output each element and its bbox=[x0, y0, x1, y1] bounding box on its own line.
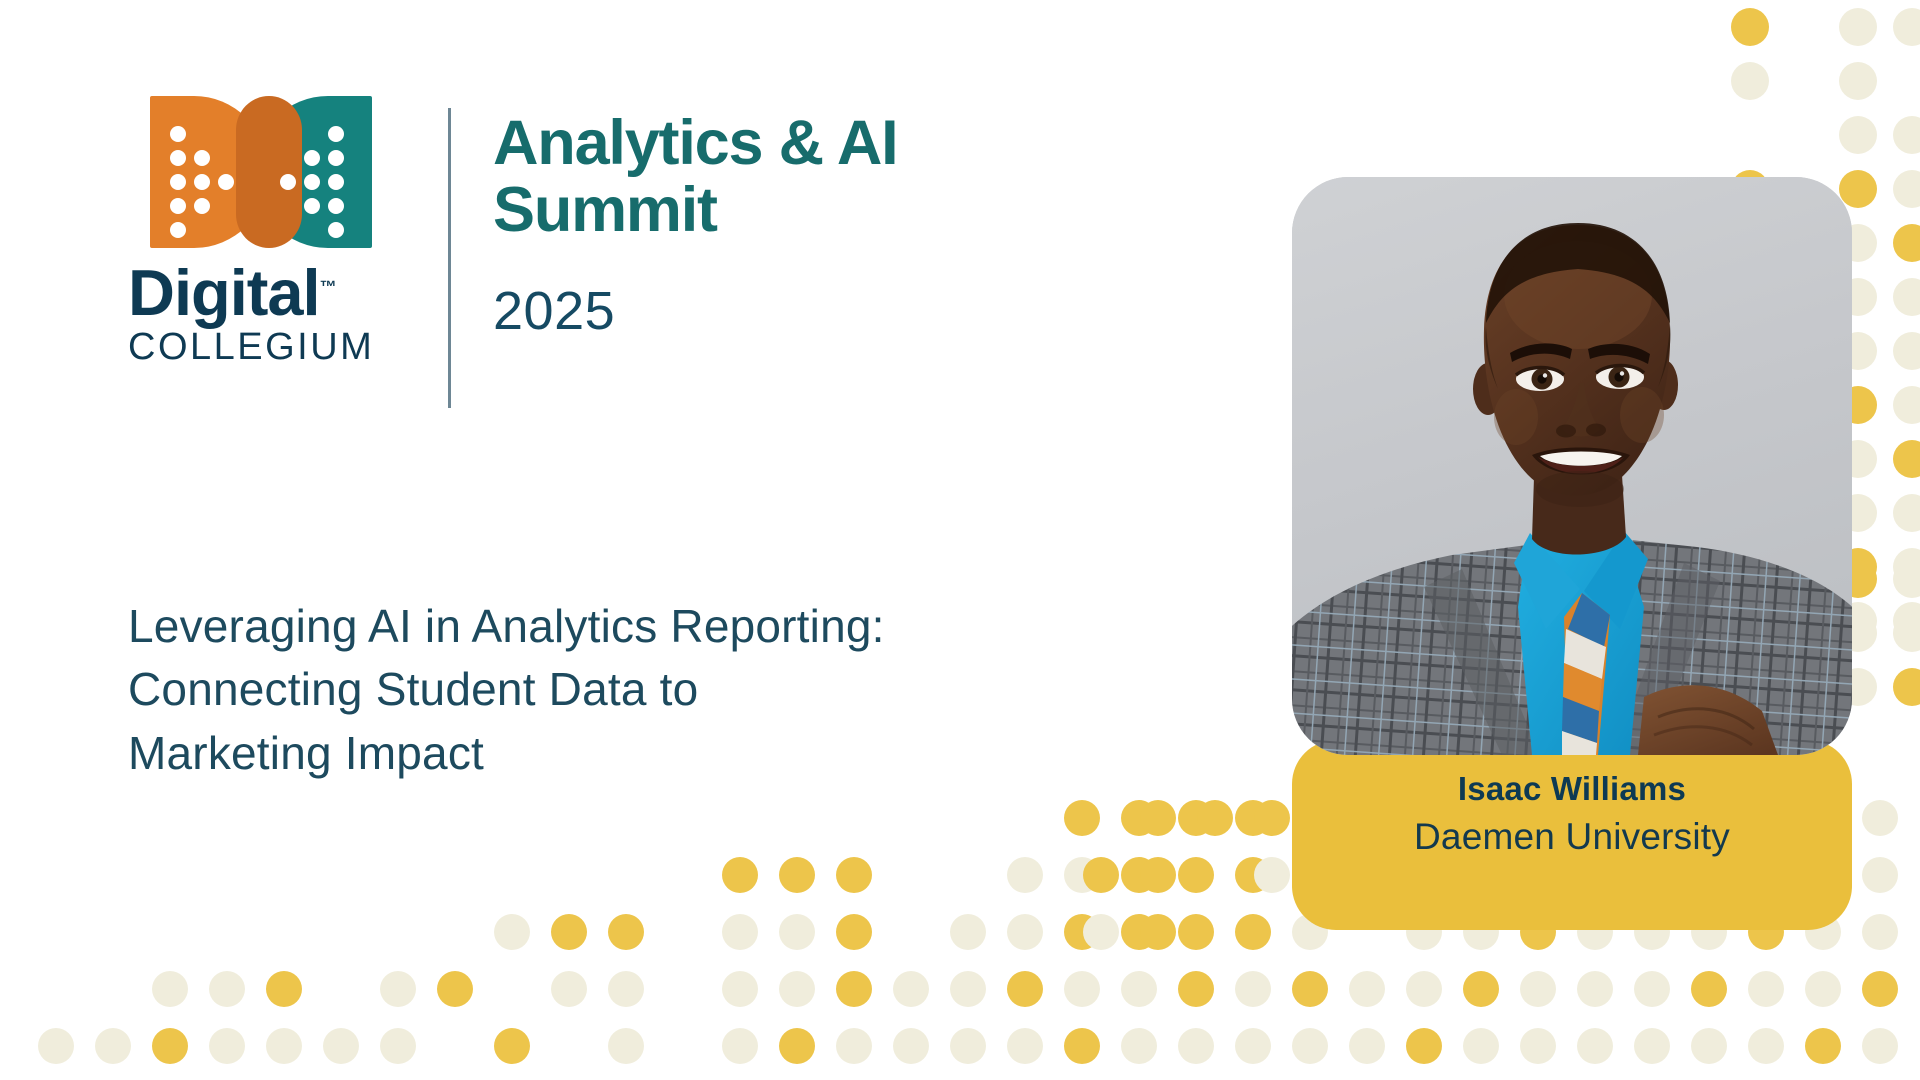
decorative-dot bbox=[494, 1028, 530, 1064]
decorative-dot bbox=[1235, 800, 1271, 836]
decorative-dot bbox=[1121, 914, 1157, 950]
monogram-dot bbox=[194, 150, 210, 166]
monogram-dot bbox=[194, 198, 210, 214]
decorative-dot bbox=[893, 971, 929, 1007]
decorative-dot bbox=[1121, 800, 1157, 836]
decorative-dot bbox=[38, 1028, 74, 1064]
wordmark-digital-text: Digital bbox=[128, 256, 320, 329]
decorative-dot bbox=[95, 1028, 131, 1064]
decorative-dot bbox=[1349, 1028, 1385, 1064]
decorative-dot bbox=[266, 1028, 302, 1064]
decorative-dot bbox=[1893, 548, 1920, 586]
decorative-dot bbox=[722, 914, 758, 950]
monogram-dot bbox=[328, 198, 344, 214]
decorative-dot bbox=[1893, 614, 1920, 652]
decorative-dot bbox=[266, 971, 302, 1007]
decorative-dot bbox=[1893, 8, 1920, 46]
decorative-dot bbox=[1862, 971, 1898, 1007]
decorative-dot bbox=[1731, 8, 1769, 46]
decorative-dot bbox=[1634, 971, 1670, 1007]
decorative-dot bbox=[1893, 494, 1920, 532]
decorative-dot bbox=[779, 914, 815, 950]
decorative-dot bbox=[1805, 1028, 1841, 1064]
decorative-dot bbox=[380, 971, 416, 1007]
session-title: Leveraging AI in Analytics Reporting: Co… bbox=[128, 595, 1198, 785]
decorative-dot bbox=[1121, 1028, 1157, 1064]
decorative-dot bbox=[1839, 170, 1877, 208]
monogram-dot-matrix bbox=[150, 96, 372, 248]
decorative-dot bbox=[1292, 1028, 1328, 1064]
decorative-dot bbox=[1064, 800, 1100, 836]
decorative-dot bbox=[1520, 1028, 1556, 1064]
decorative-dot bbox=[893, 1028, 929, 1064]
decorative-dot bbox=[1893, 170, 1920, 208]
decorative-dot bbox=[1406, 971, 1442, 1007]
monogram-dot bbox=[328, 126, 344, 142]
decorative-dot bbox=[1007, 971, 1043, 1007]
decorative-dot bbox=[1007, 914, 1043, 950]
monogram-dot bbox=[280, 174, 296, 190]
speaker-name: Isaac Williams bbox=[1292, 770, 1852, 808]
trademark-symbol: ™ bbox=[320, 277, 337, 296]
digital-collegium-logo: Digital™ COLLEGIUM bbox=[128, 96, 418, 369]
decorative-dot bbox=[722, 857, 758, 893]
event-year: 2025 bbox=[493, 280, 897, 342]
decorative-dot bbox=[1805, 971, 1841, 1007]
decorative-dot bbox=[323, 1028, 359, 1064]
decorative-dot bbox=[1007, 1028, 1043, 1064]
decorative-dot bbox=[950, 1028, 986, 1064]
decorative-dot bbox=[209, 971, 245, 1007]
decorative-dot bbox=[1254, 800, 1290, 836]
decorative-dot bbox=[779, 971, 815, 1007]
decorative-dot bbox=[836, 1028, 872, 1064]
decorative-dot bbox=[1064, 971, 1100, 1007]
monogram-dot bbox=[328, 174, 344, 190]
decorative-dot bbox=[209, 1028, 245, 1064]
monogram-dot bbox=[218, 174, 234, 190]
decorative-dot bbox=[608, 1028, 644, 1064]
decorative-dot bbox=[836, 857, 872, 893]
event-title: Analytics & AI Summit bbox=[493, 110, 897, 244]
speaker-organization: Daemen University bbox=[1292, 816, 1852, 858]
decorative-dot bbox=[1691, 971, 1727, 1007]
decorative-dot bbox=[1893, 116, 1920, 154]
decorative-dot bbox=[1893, 440, 1920, 478]
decorative-dot bbox=[1893, 332, 1920, 370]
decorative-dot bbox=[1235, 1028, 1271, 1064]
decorative-dot bbox=[1862, 800, 1898, 836]
decorative-dot bbox=[1893, 278, 1920, 316]
monogram-dot bbox=[194, 174, 210, 190]
decorative-dot bbox=[1577, 971, 1613, 1007]
decorative-dot bbox=[1083, 914, 1119, 950]
monogram-dot bbox=[328, 150, 344, 166]
decorative-dot bbox=[836, 914, 872, 950]
decorative-dot bbox=[1254, 857, 1290, 893]
decorative-dot bbox=[1839, 8, 1877, 46]
speaker-photo bbox=[1292, 177, 1852, 755]
decorative-dot bbox=[1893, 560, 1920, 598]
decorative-dot bbox=[1140, 914, 1176, 950]
decorative-dot bbox=[950, 971, 986, 1007]
decorative-dot bbox=[380, 1028, 416, 1064]
decorative-dot bbox=[722, 971, 758, 1007]
decorative-dot bbox=[1463, 1028, 1499, 1064]
decorative-dot bbox=[1083, 857, 1119, 893]
decorative-dot bbox=[779, 857, 815, 893]
decorative-dot bbox=[722, 1028, 758, 1064]
logo-divider bbox=[448, 108, 451, 408]
decorative-dot bbox=[1634, 1028, 1670, 1064]
decorative-dot bbox=[152, 1028, 188, 1064]
wordmark-digital: Digital™ bbox=[128, 260, 337, 325]
decorative-dot bbox=[1839, 62, 1877, 100]
decorative-dot bbox=[1007, 857, 1043, 893]
monogram-dot bbox=[170, 150, 186, 166]
decorative-dot bbox=[1178, 857, 1214, 893]
decorative-dot bbox=[1197, 800, 1233, 836]
decorative-dot bbox=[1862, 1028, 1898, 1064]
brand-lockup: Digital™ COLLEGIUM Analytics & AI Summit… bbox=[128, 96, 897, 408]
decorative-dot bbox=[1178, 971, 1214, 1007]
event-branding: Analytics & AI Summit 2025 bbox=[493, 96, 897, 342]
decorative-dot bbox=[1577, 1028, 1613, 1064]
decorative-dot bbox=[1178, 800, 1214, 836]
decorative-dot bbox=[437, 971, 473, 1007]
decorative-dot bbox=[1893, 224, 1920, 262]
decorative-dot bbox=[1064, 1028, 1100, 1064]
decorative-dot bbox=[779, 1028, 815, 1064]
decorative-dot bbox=[551, 971, 587, 1007]
decorative-dot bbox=[1839, 116, 1877, 154]
decorative-dot bbox=[1064, 914, 1100, 950]
wordmark-collegium: COLLEGIUM bbox=[128, 327, 418, 369]
decorative-dot bbox=[152, 971, 188, 1007]
speaker-name-card: Isaac Williams Daemen University bbox=[1292, 740, 1852, 930]
decorative-dot bbox=[836, 971, 872, 1007]
monogram-dot bbox=[170, 198, 186, 214]
decorative-dot bbox=[1235, 971, 1271, 1007]
monogram-dot bbox=[170, 174, 186, 190]
monogram-dot bbox=[328, 222, 344, 238]
decorative-dot bbox=[1292, 971, 1328, 1007]
monogram-dot bbox=[304, 150, 320, 166]
decorative-dot bbox=[1064, 857, 1100, 893]
decorative-dot bbox=[1178, 1028, 1214, 1064]
monogram-dot bbox=[170, 222, 186, 238]
decorative-dot bbox=[1140, 857, 1176, 893]
decorative-dot bbox=[950, 914, 986, 950]
decorative-dot bbox=[1893, 602, 1920, 640]
decorative-dot bbox=[1121, 857, 1157, 893]
decorative-dot bbox=[1463, 971, 1499, 1007]
decorative-dot bbox=[1235, 857, 1271, 893]
dc-monogram-icon bbox=[150, 96, 372, 248]
decorative-dot bbox=[608, 971, 644, 1007]
decorative-dot bbox=[1731, 62, 1769, 100]
decorative-dot bbox=[494, 914, 530, 950]
decorative-dot bbox=[1235, 914, 1271, 950]
decorative-dot bbox=[551, 914, 587, 950]
decorative-dot bbox=[1140, 800, 1176, 836]
decorative-dot bbox=[1178, 914, 1214, 950]
monogram-dot bbox=[304, 198, 320, 214]
decorative-dot bbox=[1862, 914, 1898, 950]
decorative-dot bbox=[1691, 1028, 1727, 1064]
decorative-dot bbox=[1893, 386, 1920, 424]
decorative-dot bbox=[1121, 971, 1157, 1007]
decorative-dot bbox=[1748, 971, 1784, 1007]
monogram-dot bbox=[170, 126, 186, 142]
decorative-dot bbox=[1520, 971, 1556, 1007]
decorative-dot bbox=[1748, 1028, 1784, 1064]
decorative-dot bbox=[1893, 668, 1920, 706]
decorative-dot bbox=[608, 914, 644, 950]
decorative-dot bbox=[1862, 857, 1898, 893]
decorative-dot bbox=[1349, 971, 1385, 1007]
decorative-dot bbox=[1406, 1028, 1442, 1064]
monogram-dot bbox=[304, 174, 320, 190]
